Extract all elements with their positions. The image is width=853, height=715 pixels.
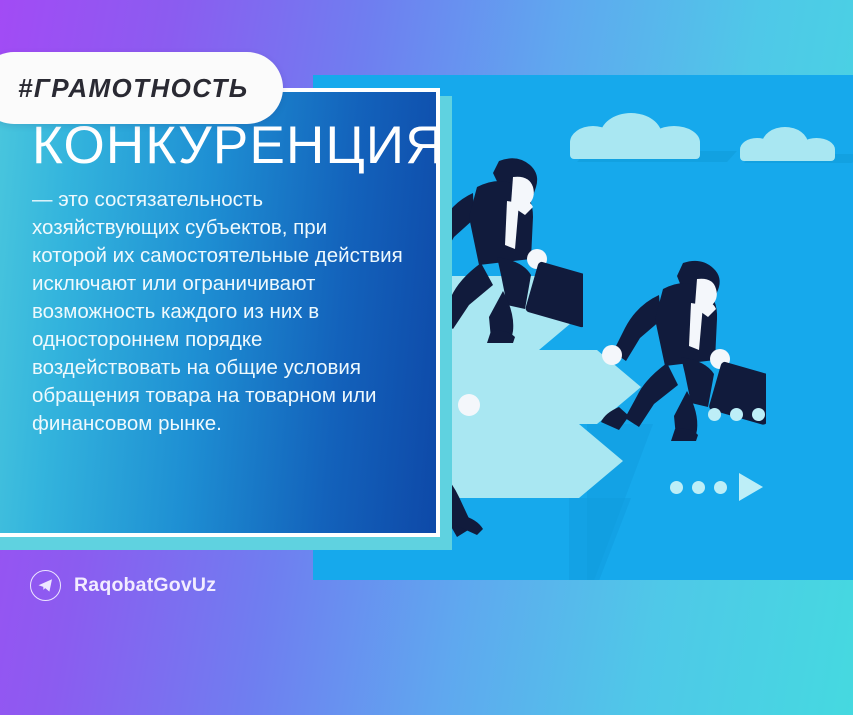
definition-card: КОНКУРЕНЦИЯ — это состязательность хозяй… bbox=[0, 88, 440, 537]
telegram-icon bbox=[30, 570, 61, 601]
hashtag-label: #ГРАМОТНОСТЬ bbox=[18, 73, 249, 104]
telegram-handle-label: RaqobatGovUz bbox=[74, 574, 216, 597]
hashtag-badge: #ГРАМОТНОСТЬ bbox=[0, 52, 283, 124]
cloud-icon bbox=[570, 113, 700, 159]
arrow-dots-trail bbox=[670, 473, 763, 501]
cloud-icon bbox=[740, 127, 835, 161]
definition-text: — это состязательность хозяйствующих суб… bbox=[32, 186, 406, 439]
arrow-dots-trail bbox=[708, 408, 765, 421]
page-title: КОНКУРЕНЦИЯ bbox=[32, 118, 406, 174]
footer-handle[interactable]: RaqobatGovUz bbox=[30, 570, 216, 601]
